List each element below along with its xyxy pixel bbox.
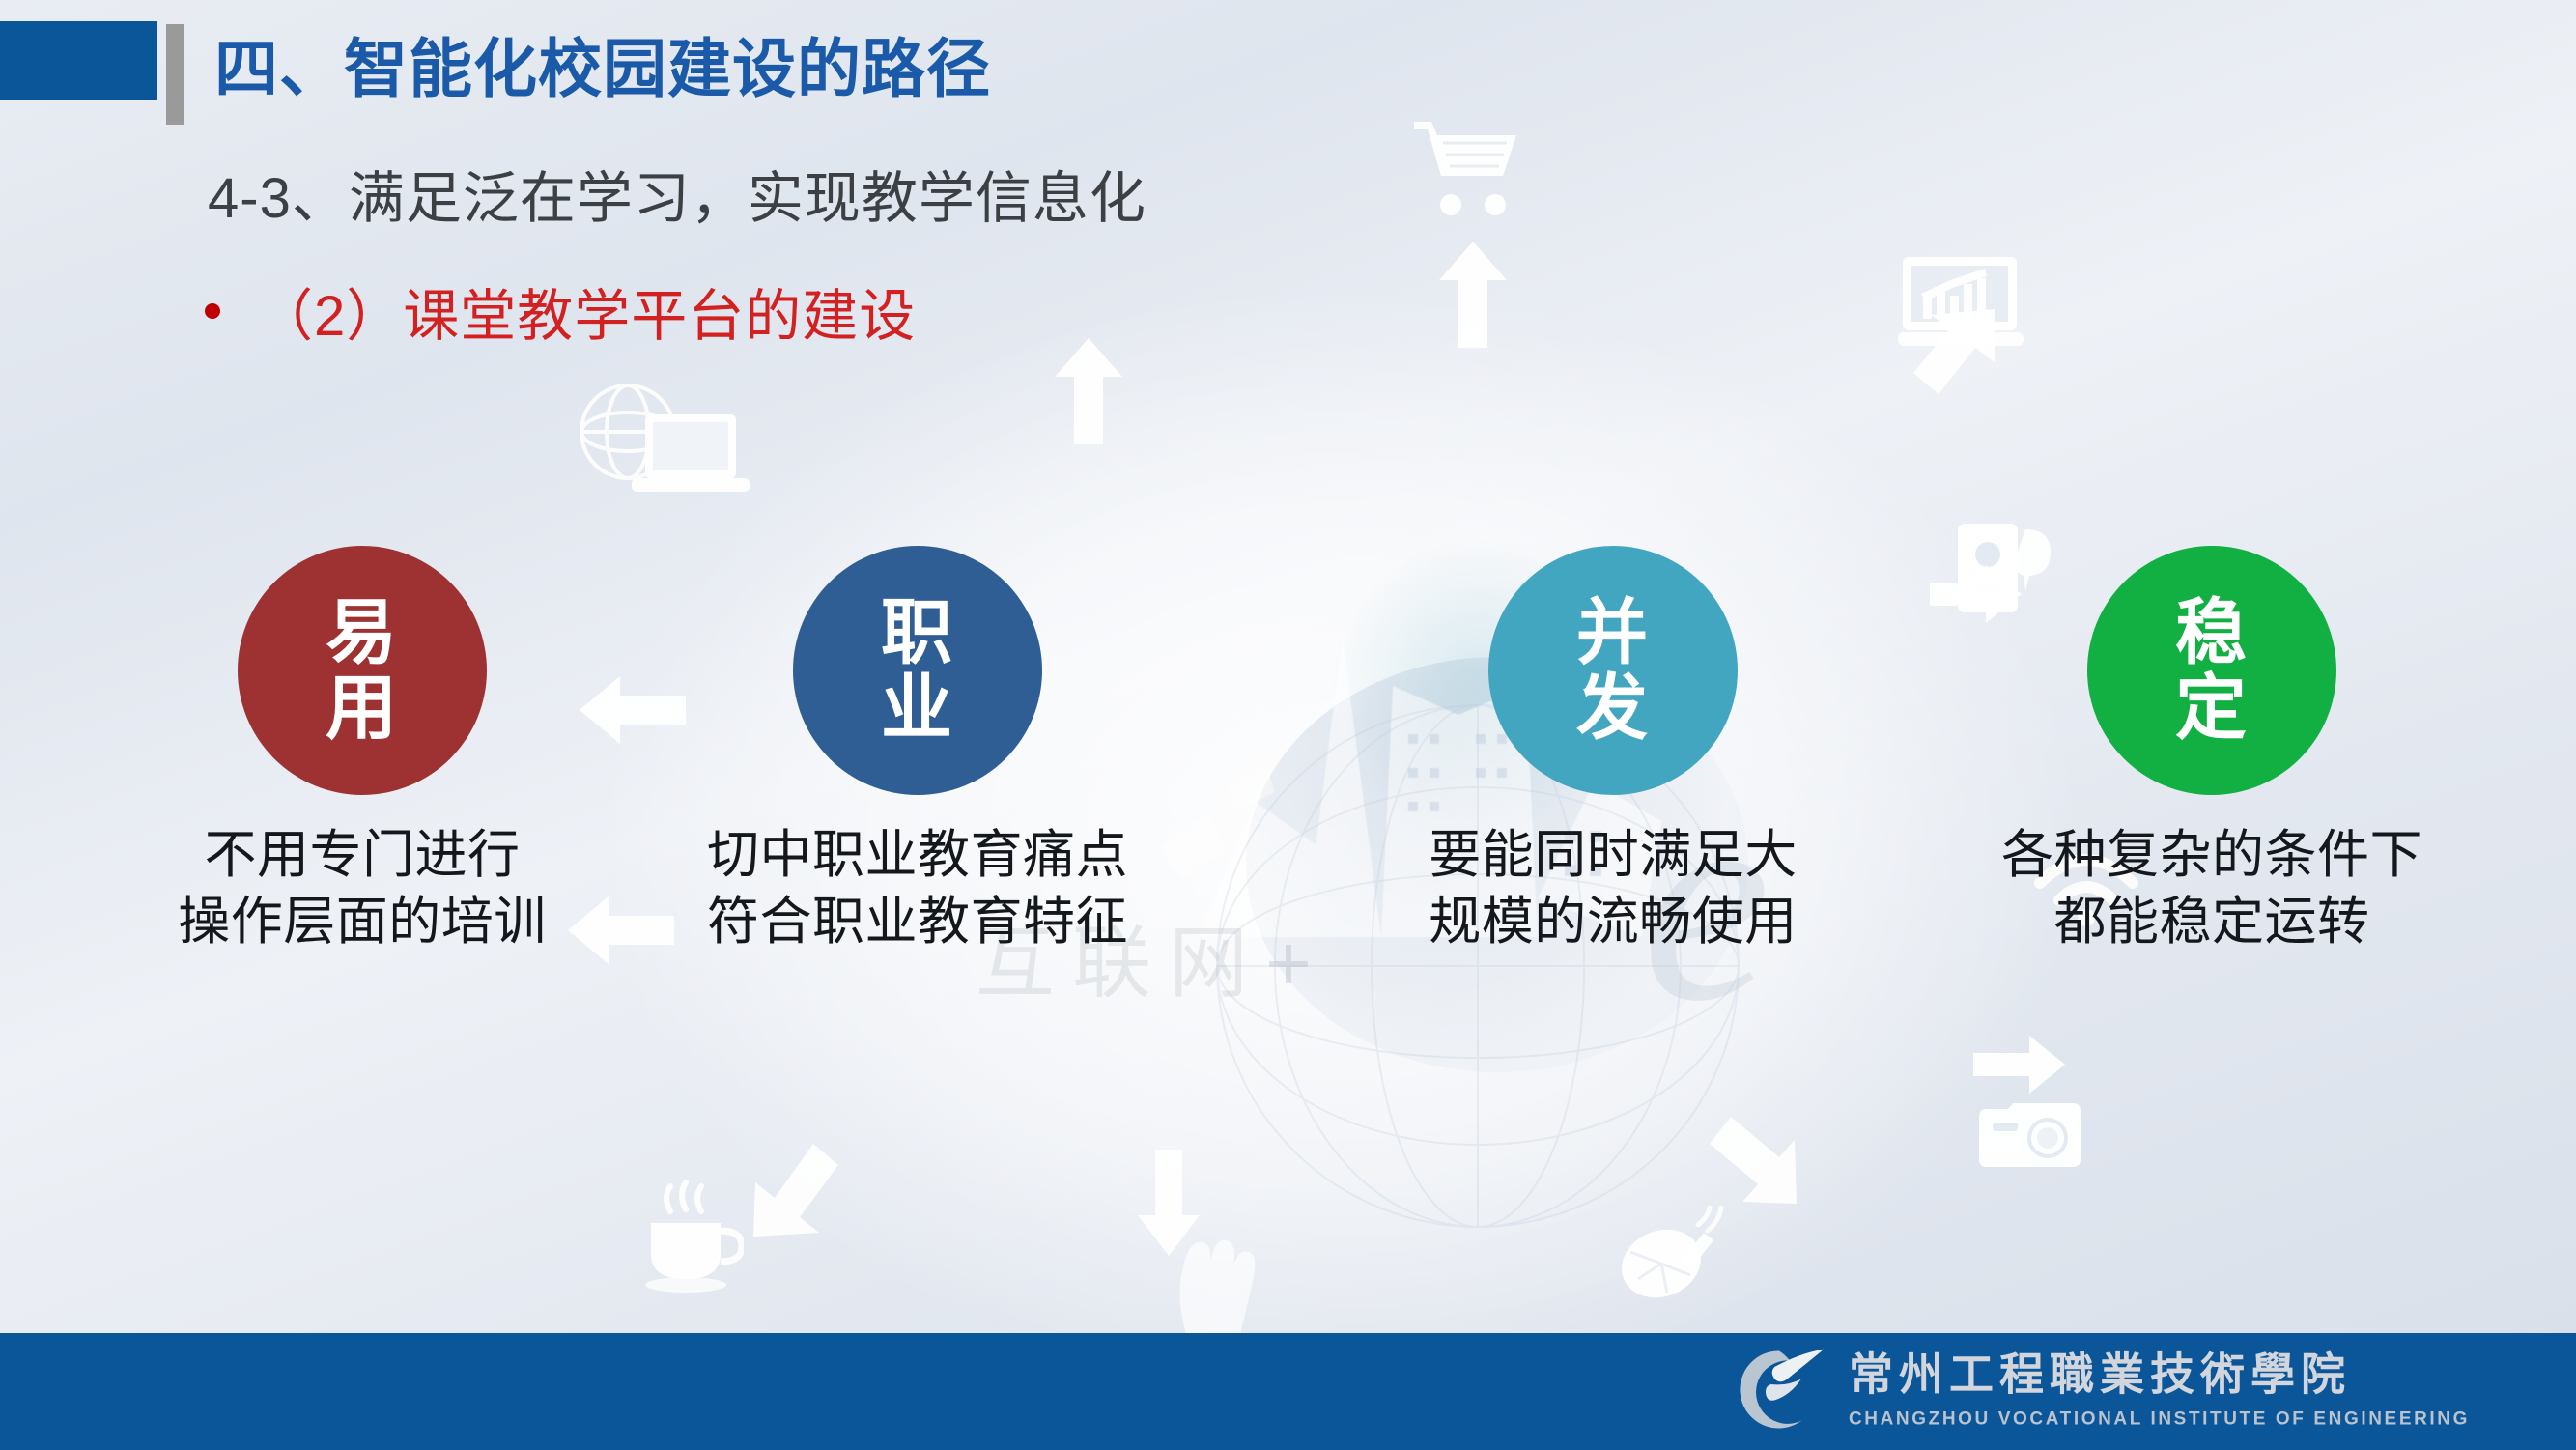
pillar-badge-char-1: 易 bbox=[326, 595, 399, 670]
pillar-caption-line-1: 各种复杂的条件下 bbox=[1941, 822, 2482, 889]
pillar-badge-char-1: 职 bbox=[881, 595, 954, 670]
pillar-item-bingfa: 并 发 要能同时满足大 规模的流畅使用 bbox=[1343, 546, 1883, 955]
pillar-caption: 不用专门进行 操作层面的培训 bbox=[92, 822, 633, 955]
pillar-caption: 要能同时满足大 规模的流畅使用 bbox=[1343, 822, 1883, 955]
pillar-item-yiyong: 易 用 不用专门进行 操作层面的培训 bbox=[92, 546, 633, 955]
globe-laptop-icon bbox=[570, 382, 753, 507]
institution-name-block: 常州工程職業技術學院 CHANGZHOU VOCATIONAL INSTITUT… bbox=[1849, 1353, 2470, 1431]
pillar-badge-char-2: 发 bbox=[1576, 670, 1650, 746]
pillar-badge-char-2: 业 bbox=[881, 670, 954, 746]
institution-name-cn: 常州工程職業技術學院 bbox=[1849, 1353, 2470, 1398]
pillar-badge-char-2: 定 bbox=[2175, 670, 2249, 746]
pillar-caption-line-2: 规模的流畅使用 bbox=[1343, 889, 1883, 955]
pillar-caption-line-1: 要能同时满足大 bbox=[1343, 822, 1883, 889]
pillar-badge-circle: 稳 定 bbox=[2087, 546, 2336, 795]
footer-bar: 常州工程職業技術學院 CHANGZHOU VOCATIONAL INSTITUT… bbox=[0, 1333, 2576, 1450]
pillar-item-zhiye: 职 业 切中职业教育痛点 符合职业教育特征 bbox=[647, 546, 1188, 955]
institution-logo-mark-icon bbox=[1731, 1345, 1827, 1438]
pillar-badge-circle: 易 用 bbox=[238, 546, 487, 795]
arrow-down-right-icon bbox=[1710, 1109, 1797, 1206]
pillar-caption-line-1: 切中职业教育痛点 bbox=[647, 822, 1188, 889]
section-subtitle: 4-3、满足泛在学习，实现教学信息化 bbox=[208, 153, 1146, 234]
pillar-badge-char-1: 并 bbox=[1576, 595, 1650, 670]
hand-icon bbox=[1154, 1208, 1260, 1352]
institution-logo: 常州工程職業技術學院 CHANGZHOU VOCATIONAL INSTITUT… bbox=[1731, 1345, 2470, 1438]
arrow-up-icon bbox=[1055, 338, 1122, 444]
page-title: 四、智能化校园建设的路径 bbox=[214, 17, 991, 110]
slide-canvas: e bbox=[0, 0, 2576, 1450]
pillar-item-wending: 稳 定 各种复杂的条件下 都能稳定运转 bbox=[1941, 546, 2482, 955]
pillar-caption: 切中职业教育痛点 符合职业教育特征 bbox=[647, 822, 1188, 955]
bullet-dot-icon bbox=[205, 303, 220, 319]
pillar-badge-circle: 并 发 bbox=[1488, 546, 1738, 795]
pillar-badge-circle: 职 业 bbox=[793, 546, 1042, 795]
pillar-caption-line-2: 操作层面的培训 bbox=[92, 889, 633, 955]
coffee-cup-icon bbox=[637, 1179, 744, 1294]
pillar-caption-line-1: 不用专门进行 bbox=[92, 822, 633, 889]
satellite-dish-icon bbox=[1615, 1206, 1731, 1312]
pillar-badge-char-2: 用 bbox=[326, 670, 399, 746]
pillar-group: 易 用 不用专门进行 操作层面的培训 职 业 切中职业教育痛点 符合职业教育特征… bbox=[0, 546, 2576, 1067]
pillar-caption-line-2: 都能稳定运转 bbox=[1941, 889, 2482, 955]
arrow-down-icon bbox=[1138, 1150, 1200, 1256]
bullet-item: （2）课堂教学平台的建设 bbox=[205, 270, 916, 352]
laptop-chart-icon bbox=[1898, 253, 2024, 355]
arrow-down-left-icon bbox=[753, 1140, 840, 1237]
arrow-up-icon bbox=[1439, 242, 1507, 348]
pillar-badge-char-1: 稳 bbox=[2175, 595, 2249, 670]
arrow-up-right-icon bbox=[1908, 309, 1995, 396]
bullet-item-label: （2）课堂教学平台的建设 bbox=[257, 270, 916, 352]
header-accent-bar bbox=[166, 24, 184, 125]
camera-icon bbox=[1975, 1101, 2091, 1171]
institution-name-en: CHANGZHOU VOCATIONAL INSTITUTE OF ENGINE… bbox=[1849, 1409, 2470, 1431]
pillar-caption-line-2: 符合职业教育特征 bbox=[647, 889, 1188, 955]
pillar-caption: 各种复杂的条件下 都能稳定运转 bbox=[1941, 822, 2482, 955]
shopping-cart-icon bbox=[1410, 116, 1526, 222]
header-accent-square bbox=[0, 21, 157, 100]
